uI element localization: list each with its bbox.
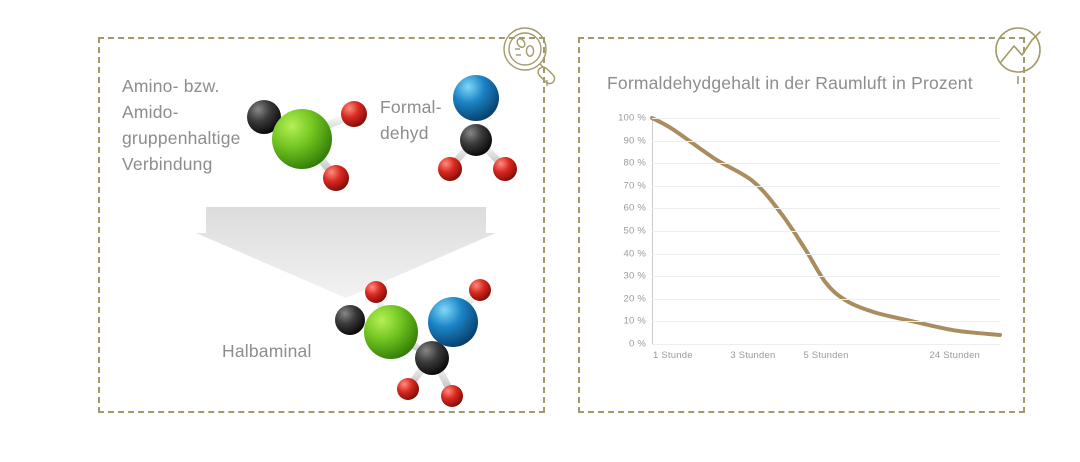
gridline — [652, 208, 1000, 209]
gridline — [652, 163, 1000, 164]
chart-area: 100 %90 %80 %70 %60 %50 %40 %30 %20 %10 … — [600, 118, 1010, 378]
y-axis-tick: 0 % — [600, 339, 646, 350]
gridline — [652, 276, 1000, 277]
gridline — [652, 186, 1000, 187]
gridline — [652, 321, 1000, 322]
y-axis-tick: 20 % — [600, 293, 646, 304]
y-axis-tick: 10 % — [600, 316, 646, 327]
y-axis-tick: 80 % — [600, 158, 646, 169]
y-axis-tick: 60 % — [600, 203, 646, 214]
gridline — [652, 118, 1000, 119]
chart-title: Formaldehydgehalt in der Raumluft in Pro… — [607, 73, 973, 94]
y-axis-tick: 90 % — [600, 135, 646, 146]
formaldehyde-molecule — [432, 68, 532, 188]
slide-canvas: Amino- bzw. Amido- gruppenhaltige Verbin… — [0, 0, 1080, 462]
y-axis-tick: 50 % — [600, 226, 646, 237]
y-axis-tick: 40 % — [600, 248, 646, 259]
x-axis-tick: 5 Stunden — [803, 350, 848, 361]
trend-chart-icon — [988, 22, 1054, 88]
series-line — [652, 118, 1000, 335]
plot-area — [652, 118, 1000, 344]
gridline — [652, 141, 1000, 142]
y-axis-tick: 30 % — [600, 271, 646, 282]
amino-compound-molecule — [236, 84, 376, 199]
x-axis-tick: 3 Stunden — [730, 350, 775, 361]
gridline — [652, 344, 1000, 345]
gridline — [652, 231, 1000, 232]
y-axis-tick: 70 % — [600, 180, 646, 191]
halbaminal-molecule — [328, 272, 508, 412]
x-axis-labels: 1 Stunde3 Stunden5 Stunden24 Stunden — [652, 350, 1000, 370]
x-axis-tick: 24 Stunden — [929, 350, 980, 361]
y-axis-labels: 100 %90 %80 %70 %60 %50 %40 %30 %20 %10 … — [600, 118, 646, 344]
y-axis-tick: 100 % — [600, 113, 646, 124]
gridline — [652, 299, 1000, 300]
gridline — [652, 254, 1000, 255]
x-axis-tick: 1 Stunde — [653, 350, 693, 361]
